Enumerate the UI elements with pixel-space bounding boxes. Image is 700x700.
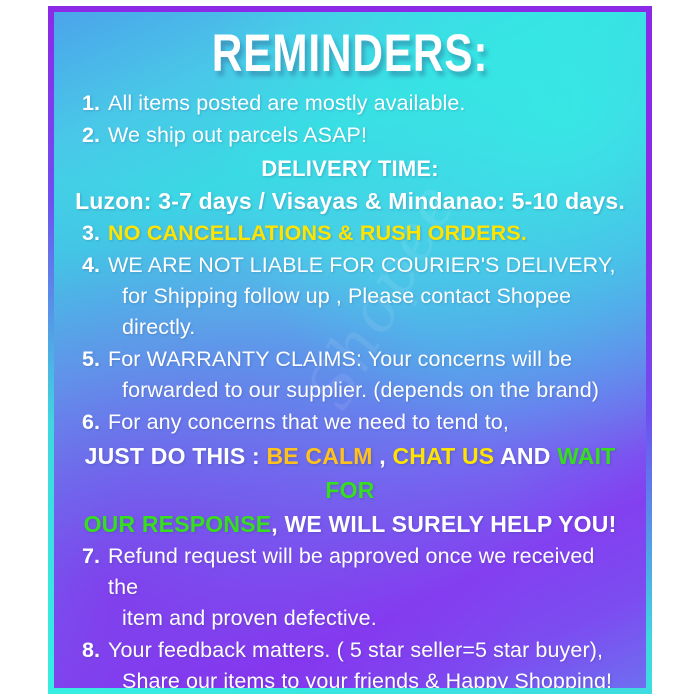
list-marker: 4. xyxy=(82,250,100,281)
list-item-text: We ship out parcels ASAP! xyxy=(108,120,628,151)
list-item-8: 8. Your feedback matters. ( 5 star selle… xyxy=(72,635,628,688)
poster-content: REMINDERS: 1. All items posted are mostl… xyxy=(54,12,646,688)
list-item-3: 3. NO CANCELLATIONS & RUSH ORDERS. xyxy=(72,218,628,249)
list-item-4: 4. WE ARE NOT LIABLE FOR COURIER'S DELIV… xyxy=(72,250,628,343)
list-item-text: NO CANCELLATIONS & RUSH ORDERS. xyxy=(108,218,628,249)
list-item-5: 5. For WARRANTY CLAIMS: Your concerns wi… xyxy=(72,344,628,406)
emphasis-and: AND xyxy=(494,443,557,469)
delivery-time-block: DELIVERY TIME: Luzon: 3-7 days / Visayas… xyxy=(72,152,628,218)
list-item-text-cont: for Shipping follow up , Please contact … xyxy=(108,281,628,343)
delivery-time-detail: Luzon: 3-7 days / Visayas & Mindanao: 5-… xyxy=(72,185,628,218)
list-item-text-cont: Share our items to your friends & Happy … xyxy=(108,666,628,688)
poster-stage: Shopee REMINDERS: 1. All items posted ar… xyxy=(0,0,700,700)
list-marker: 8. xyxy=(82,635,100,666)
list-marker: 5. xyxy=(82,344,100,375)
list-item-text-cont: forwarded to our supplier. (depends on t… xyxy=(108,375,628,406)
page-title: REMINDERS: xyxy=(128,26,573,88)
emphasis-chat-us: CHAT US xyxy=(392,443,494,469)
list-marker: 1. xyxy=(82,88,100,119)
list-item-text: For any concerns that we need to tend to… xyxy=(108,407,628,438)
list-marker: 7. xyxy=(82,541,100,572)
emphasis-help-you: , WE WILL SURELY HELP YOU! xyxy=(271,511,616,537)
list-marker: 3. xyxy=(82,218,100,249)
list-item-text: WE ARE NOT LIABLE FOR COURIER'S DELIVERY… xyxy=(108,250,628,281)
list-item-text: Your feedback matters. ( 5 star seller=5… xyxy=(108,635,628,666)
list-marker: 2. xyxy=(82,120,100,151)
emphasis-block: JUST DO THIS : BE CALM , CHAT US AND WAI… xyxy=(72,439,628,541)
list-item-1: 1. All items posted are mostly available… xyxy=(72,88,628,119)
highlight-no-cancellations: NO CANCELLATIONS & RUSH ORDERS xyxy=(108,221,521,245)
emphasis-line-1: JUST DO THIS : BE CALM , CHAT US AND WAI… xyxy=(72,439,628,507)
list-item-7: 7. Refund request will be approved once … xyxy=(72,541,628,634)
list-item-6: 6. For any concerns that we need to tend… xyxy=(72,407,628,438)
list-item-text: Refund request will be approved once we … xyxy=(108,541,628,603)
list-item-2: 2. We ship out parcels ASAP! xyxy=(72,120,628,151)
emphasis-be-calm: BE CALM xyxy=(266,443,372,469)
delivery-time-heading: DELIVERY TIME: xyxy=(72,152,628,185)
gradient-panel: Shopee REMINDERS: 1. All items posted ar… xyxy=(54,12,646,688)
emphasis-line-2: OUR RESPONSE, WE WILL SURELY HELP YOU! xyxy=(72,507,628,541)
emphasis-separator: , xyxy=(373,443,393,469)
list-item-text: All items posted are mostly available. xyxy=(108,88,628,119)
list-item-text-cont: item and proven defective. xyxy=(108,603,628,634)
list-item-text: For WARRANTY CLAIMS: Your concerns will … xyxy=(108,344,628,375)
gradient-border-frame: Shopee REMINDERS: 1. All items posted ar… xyxy=(48,6,652,694)
emphasis-lead: JUST DO THIS : xyxy=(85,443,267,469)
list-marker: 6. xyxy=(82,407,100,438)
emphasis-our-response: OUR RESPONSE xyxy=(84,511,272,537)
highlight-period: . xyxy=(521,221,527,245)
reminder-list: 1. All items posted are mostly available… xyxy=(72,88,628,688)
